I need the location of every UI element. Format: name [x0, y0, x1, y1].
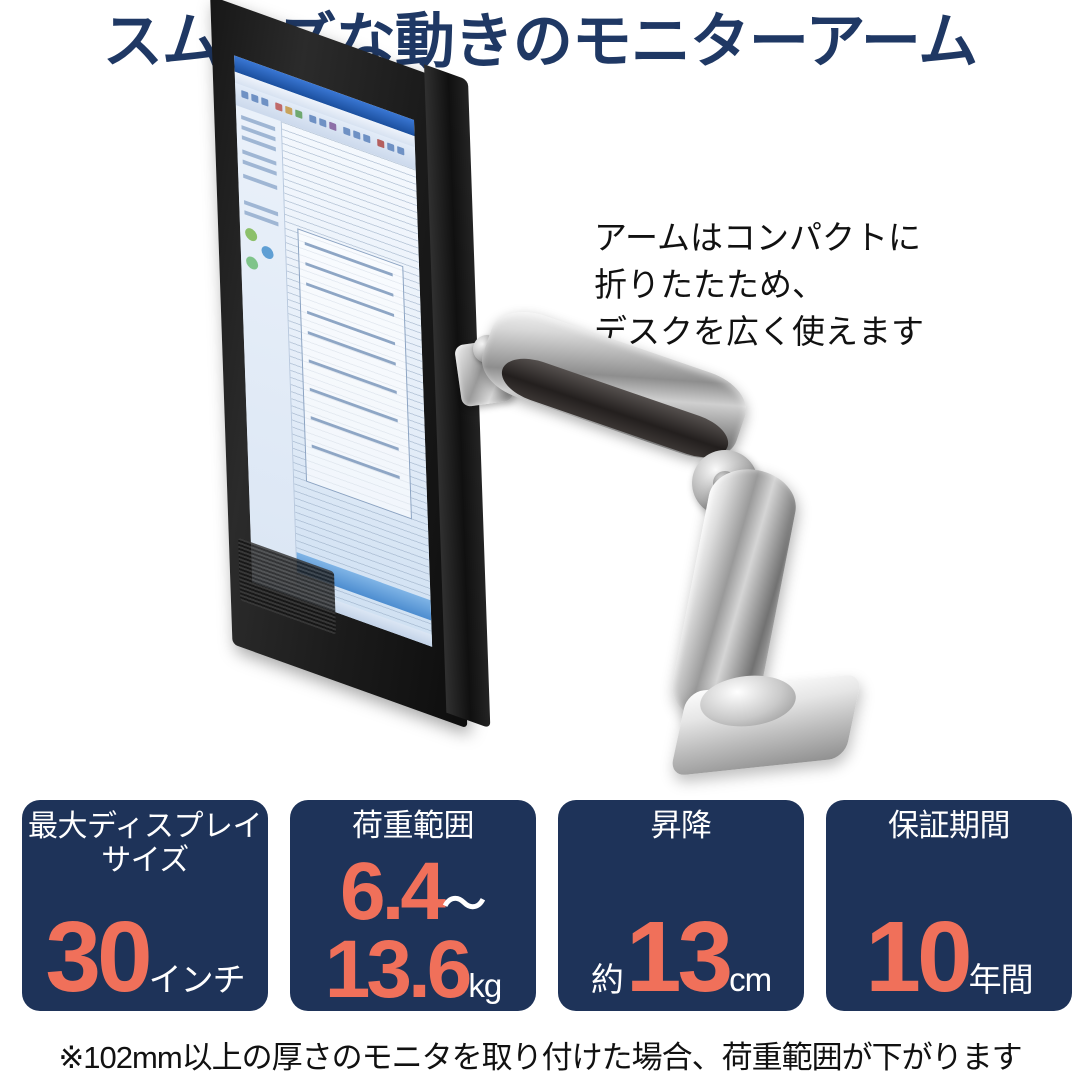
spec-badge-display-size: 最大ディスプレイ サイズ 30 インチ — [22, 800, 268, 1011]
spec-value-row-max: 13.6 kg — [290, 931, 536, 1009]
spec-number: 30 — [45, 907, 148, 1007]
spec-label-line-2: サイズ — [22, 844, 268, 878]
screen-dot-green — [245, 226, 257, 242]
page-title: スムーズな動きのモニターアーム — [0, 8, 1080, 75]
spec-badge-load-range: 荷重範囲 6.4 〜 13.6 kg — [290, 800, 536, 1011]
footnote-disclaimer: ※102mm以上の厚さのモニタを取り付けた場合、荷重範囲が下がります — [0, 1032, 1080, 1077]
spec-unit: 年間 — [969, 963, 1033, 996]
spec-badge-warranty: 保証期間 10 年間 — [826, 800, 1072, 1011]
spec-value: 10 年間 — [826, 907, 1072, 1007]
spec-label: 昇降 — [558, 808, 804, 843]
spec-number: 10 — [865, 907, 968, 1007]
spec-number: 13 — [626, 907, 729, 1007]
spec-label: 最大ディスプレイ サイズ — [22, 810, 268, 878]
spec-label-line-1: 荷重範囲 — [290, 808, 536, 843]
screen-document-panel — [297, 228, 412, 519]
spec-value: 30 インチ — [22, 907, 268, 1007]
spec-value: 6.4 〜 13.6 kg — [290, 853, 536, 1009]
spec-value-prefix: 約 — [591, 963, 624, 996]
spec-label: 保証期間 — [826, 808, 1072, 843]
spec-number-max: 13.6 — [325, 931, 469, 1009]
spec-value: 約 13 cm — [558, 907, 804, 1007]
spec-unit: kg — [468, 970, 501, 1001]
monitor — [210, 80, 510, 770]
spec-badge-row: 最大ディスプレイ サイズ 30 インチ 荷重範囲 6.4 〜 13.6 kg — [22, 800, 1072, 1011]
spec-label-line-1: 保証期間 — [826, 808, 1072, 843]
spec-label-line-1: 昇降 — [558, 808, 804, 843]
spec-number-min: 6.4 — [340, 853, 442, 931]
spec-unit: インチ — [149, 963, 245, 996]
screen-dot-teal — [246, 255, 258, 271]
product-feature-banner: スムーズな動きのモニターアーム アームはコンパクトに 折りたたため、 デスクを広… — [0, 0, 1080, 1080]
screen-dot-blue — [261, 244, 273, 260]
spec-label: 荷重範囲 — [290, 808, 536, 843]
spec-range-tilde: 〜 — [442, 884, 486, 926]
spec-value-row-min: 6.4 〜 — [290, 853, 536, 931]
spec-badge-height-adjust: 昇降 約 13 cm — [558, 800, 804, 1011]
spec-unit: cm — [729, 963, 771, 996]
product-photo — [180, 70, 940, 785]
spec-label-line-1: 最大ディスプレイ — [22, 810, 268, 844]
